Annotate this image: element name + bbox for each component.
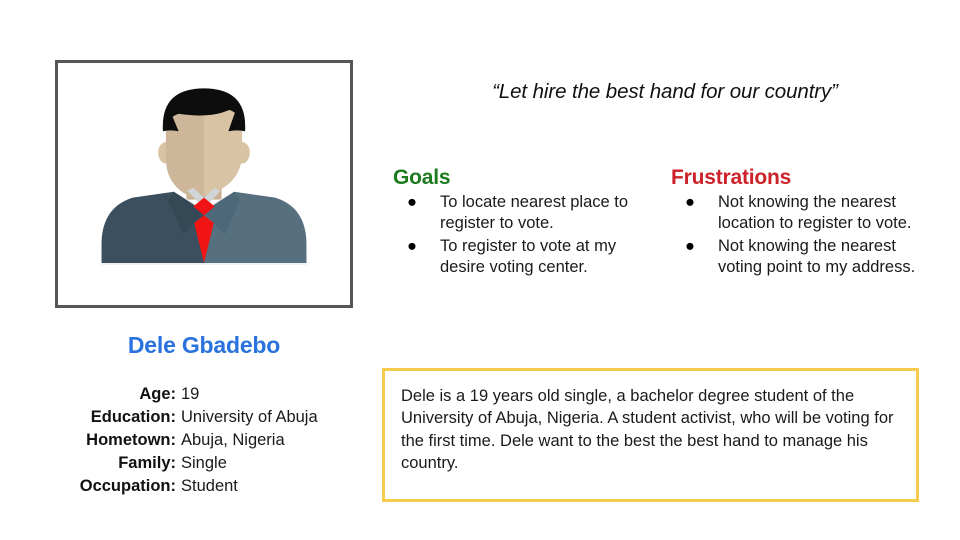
detail-row-occupation: Occupation: Student <box>0 476 408 498</box>
businessman-avatar-icon <box>58 63 350 305</box>
persona-bio-text: Dele is a 19 years old single, a bachelo… <box>401 385 900 475</box>
detail-row-education: Education: University of Abuja <box>0 407 408 429</box>
detail-value: Single <box>181 453 408 475</box>
persona-quote: “Let hire the best hand for our country” <box>395 80 935 104</box>
persona-name: Dele Gbadebo <box>0 332 408 359</box>
goals-heading: Goals <box>393 166 645 190</box>
detail-value: University of Abuja <box>181 407 408 429</box>
list-item-text: Not knowing the nearest voting point to … <box>718 237 915 276</box>
detail-row-family: Family: Single <box>0 453 408 475</box>
frustrations-list: ● Not knowing the nearest location to re… <box>671 192 933 279</box>
detail-label: Hometown: <box>0 430 181 452</box>
list-item: ● Not knowing the nearest voting point t… <box>671 236 933 279</box>
detail-label: Family: <box>0 453 181 475</box>
list-item: ● To locate nearest place to register to… <box>393 192 645 235</box>
bullet-icon: ● <box>685 236 695 257</box>
detail-label: Education: <box>0 407 181 429</box>
bullet-icon: ● <box>685 192 695 213</box>
persona-photo-frame <box>55 60 353 308</box>
detail-value: 19 <box>181 384 408 406</box>
detail-label: Occupation: <box>0 476 181 498</box>
frustrations-heading: Frustrations <box>671 166 933 190</box>
list-item-text: To register to vote at my desire voting … <box>440 237 616 276</box>
list-item: ● To register to vote at my desire votin… <box>393 236 645 279</box>
persona-details-list: Age: 19 Education: University of Abuja H… <box>0 384 408 498</box>
goals-section: Goals ● To locate nearest place to regis… <box>393 166 645 280</box>
detail-value: Student <box>181 476 408 498</box>
frustrations-section: Frustrations ● Not knowing the nearest l… <box>671 166 933 280</box>
detail-label: Age: <box>0 384 181 406</box>
goals-list: ● To locate nearest place to register to… <box>393 192 645 279</box>
detail-row-hometown: Hometown: Abuja, Nigeria <box>0 430 408 452</box>
list-item-text: Not knowing the nearest location to regi… <box>718 193 912 232</box>
list-item: ● Not knowing the nearest location to re… <box>671 192 933 235</box>
list-item-text: To locate nearest place to register to v… <box>440 193 628 232</box>
persona-bio-box: Dele is a 19 years old single, a bachelo… <box>382 368 919 502</box>
bullet-icon: ● <box>407 236 417 257</box>
bullet-icon: ● <box>407 192 417 213</box>
detail-value: Abuja, Nigeria <box>181 430 408 452</box>
detail-row-age: Age: 19 <box>0 384 408 406</box>
